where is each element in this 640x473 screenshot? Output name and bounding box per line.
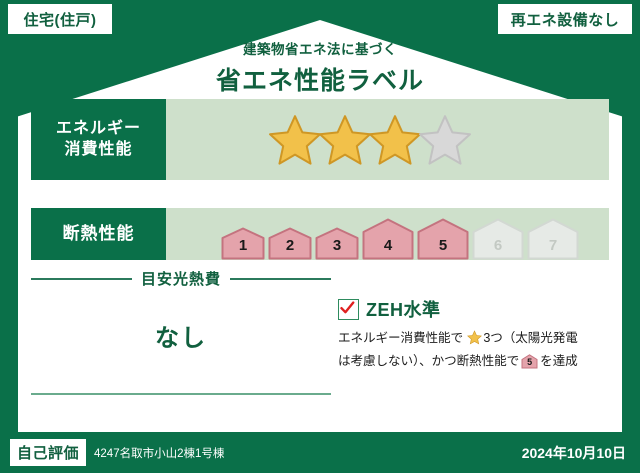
row-energy-label-line1: エネルギー	[56, 119, 141, 139]
zeh-heading: ZEH水準	[338, 296, 610, 322]
insulation-level-6: 6	[472, 218, 524, 260]
zeh-desc-part3: を達成	[540, 354, 577, 368]
badge-renewable-energy: 再エネ設備なし	[498, 4, 632, 34]
utility-cost-header: 目安光熱費	[31, 268, 331, 289]
label-footer: 自己評価 4247名取市小山2棟1号棟 2024年10月10日	[0, 432, 640, 473]
zeh-standard-block: ZEH水準 エネルギー消費性能で 3つ（太陽光発電 は考慮しない）、かつ断熱性能…	[338, 296, 610, 372]
insulation-scale: 1234567	[166, 208, 579, 260]
footer-address: 4247名取市小山2棟1号棟	[94, 445, 522, 461]
insulation-level-number: 5	[417, 237, 469, 254]
utility-cost-divider	[31, 393, 331, 395]
row-insulation-label: 断熱性能	[31, 208, 166, 260]
star-filled-icon	[267, 113, 323, 167]
row-energy-label-line2: 消費性能	[64, 140, 132, 160]
zeh-desc-stars: 3つ（太陽光発電	[483, 331, 577, 345]
star-filled-icon	[367, 113, 423, 167]
insulation-level-2: 2	[268, 227, 312, 260]
inline-star-icon	[464, 334, 482, 348]
title-subtitle: 建築物省エネ法に基づく	[0, 38, 640, 58]
footer-date: 2024年10月10日	[522, 443, 626, 463]
insulation-level-4: 4	[362, 218, 414, 260]
star-rating	[166, 113, 467, 167]
rule-left	[31, 278, 132, 280]
row-energy-performance: エネルギー 消費性能	[31, 99, 609, 180]
zeh-desc-part1: エネルギー消費性能で	[338, 331, 463, 345]
insulation-level-number: 6	[472, 237, 524, 254]
rule-right	[230, 278, 331, 280]
title-main: 省エネ性能ラベル	[0, 61, 640, 97]
checkbox-checked-icon	[338, 299, 359, 320]
insulation-level-number: 7	[527, 237, 579, 254]
utility-cost-title: 目安光熱費	[132, 268, 230, 289]
label-title-block: 建築物省エネ法に基づく 省エネ性能ラベル	[0, 38, 640, 97]
energy-performance-label: 住宅(住戸) 再エネ設備なし 建築物省エネ法に基づく 省エネ性能ラベル エネルギ…	[0, 0, 640, 473]
row-energy-body	[166, 99, 609, 180]
row-energy-label: エネルギー 消費性能	[31, 99, 166, 180]
row-insulation-performance: 断熱性能 1234567	[31, 208, 609, 260]
insulation-level-5: 5	[417, 218, 469, 260]
zeh-description: エネルギー消費性能で 3つ（太陽光発電 は考慮しない）、かつ断熱性能で 5 を達…	[338, 328, 610, 372]
insulation-level-number: 2	[268, 237, 312, 254]
inline-house-number: 5	[521, 355, 538, 370]
star-empty-icon	[417, 113, 473, 167]
insulation-level-number: 3	[315, 237, 359, 254]
badge-building-type: 住宅(住戸)	[8, 4, 112, 34]
insulation-level-7: 7	[527, 218, 579, 260]
star-filled-icon	[317, 113, 373, 167]
zeh-title: ZEH水準	[366, 296, 441, 322]
row-insulation-body: 1234567	[166, 208, 609, 260]
inline-house-icon: 5	[521, 354, 538, 369]
insulation-level-1: 1	[221, 227, 265, 260]
insulation-level-3: 3	[315, 227, 359, 260]
zeh-desc-part2: は考慮しない）、かつ断熱性能で	[338, 354, 519, 368]
utility-cost-value: なし	[31, 318, 331, 353]
insulation-level-number: 4	[362, 237, 414, 254]
insulation-level-number: 1	[221, 237, 265, 254]
badge-self-evaluation: 自己評価	[10, 439, 86, 466]
